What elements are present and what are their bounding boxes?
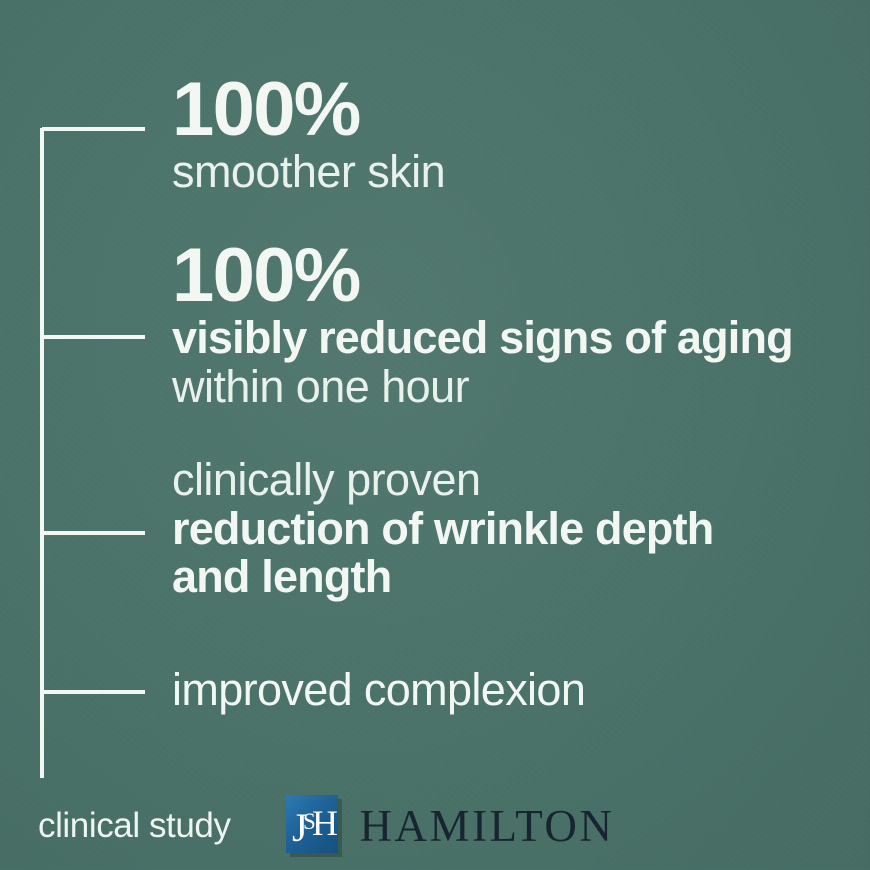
claim-body-text-second-line: and length (172, 553, 713, 602)
claim-body-text: smoother skin (172, 148, 445, 197)
clinical-study-label: clinical study (38, 806, 231, 846)
jsh-monogram-logo-icon: J S H (286, 795, 342, 857)
claim-body-text: visibly reduced signs of aging (172, 314, 793, 363)
claim-wrinkle-depth-and-length: clinically proven reduction of wrinkle d… (172, 456, 713, 602)
brand-lockup: J S H HAMILTON (286, 795, 615, 857)
claim-body-text: reduction of wrinkle depth (172, 505, 713, 554)
claim-qualifier-text: within one hour (172, 363, 793, 412)
claim-headline-percentage: 100% (172, 72, 445, 148)
claim-smoother-skin: 100% smoother skin (172, 72, 445, 197)
claim-lead-text: clinically proven (172, 456, 713, 505)
hamilton-wordmark: HAMILTON (360, 800, 615, 852)
claim-body-text: improved complexion (172, 666, 585, 715)
promo-graphic: 100% smoother skin 100% visibly reduced … (0, 0, 870, 870)
claim-improved-complexion: improved complexion (172, 666, 585, 715)
claim-headline-percentage: 100% (172, 238, 793, 314)
claim-reduced-signs-of-aging: 100% visibly reduced signs of aging with… (172, 238, 793, 411)
footer: clinical study J S H HAMILTON (38, 796, 614, 856)
svg-text:H: H (312, 803, 338, 843)
